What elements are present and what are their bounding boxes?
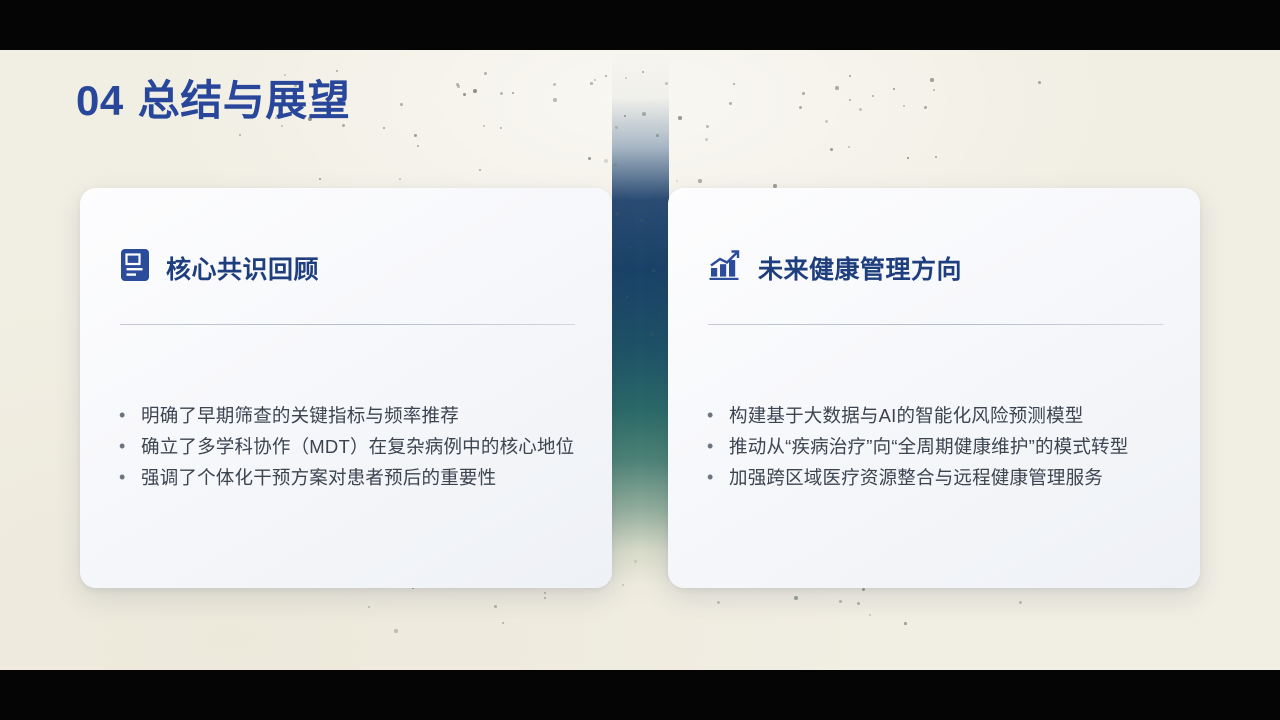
list-item: 明确了早期筛查的关键指标与频率推荐 (115, 400, 585, 431)
card-right-header: 未来健康管理方向 (708, 248, 962, 287)
bar-chart-growth-icon (708, 248, 742, 287)
letterbox-bottom-bar (0, 670, 1280, 720)
section-number: 04 (76, 77, 124, 124)
report-document-icon (120, 248, 150, 287)
card-future-health-management[interactable]: 未来健康管理方向 构建基于大数据与AI的智能化风险预测模型 推动从“疾病治疗”向… (668, 188, 1200, 588)
letterbox-top-bar (0, 0, 1280, 50)
card-left-divider (120, 324, 575, 325)
page-title: 04总结与展望 (76, 80, 350, 122)
list-item: 加强跨区域医疗资源整合与远程健康管理服务 (703, 462, 1173, 493)
card-core-consensus[interactable]: 核心共识回顾 明确了早期筛查的关键指标与频率推荐 确立了多学科协作（MDT）在复… (80, 188, 612, 588)
card-left-bullet-list: 明确了早期筛查的关键指标与频率推荐 确立了多学科协作（MDT）在复杂病例中的核心… (115, 400, 585, 493)
slide-canvas: 04总结与展望 核心共识回顾 明确了早期筛查的关键指标与频率推荐 确立了多学科协 (0, 50, 1280, 670)
list-item: 强调了个体化干预方案对患者预后的重要性 (115, 462, 585, 493)
card-right-bullet-list: 构建基于大数据与AI的智能化风险预测模型 推动从“疾病治疗”向“全周期健康维护”… (703, 400, 1173, 493)
list-item: 确立了多学科协作（MDT）在复杂病例中的核心地位 (115, 431, 585, 462)
card-right-divider (708, 324, 1163, 325)
card-left-header: 核心共识回顾 (120, 248, 319, 287)
list-item: 构建基于大数据与AI的智能化风险预测模型 (703, 400, 1173, 431)
card-left-title: 核心共识回顾 (166, 250, 319, 286)
center-gradient-band (612, 50, 669, 610)
list-item: 推动从“疾病治疗”向“全周期健康维护”的模式转型 (703, 431, 1173, 462)
slide-root: 04总结与展望 核心共识回顾 明确了早期筛查的关键指标与频率推荐 确立了多学科协 (0, 0, 1280, 720)
card-right-title: 未来健康管理方向 (758, 250, 962, 286)
section-title-text: 总结与展望 (138, 77, 351, 124)
